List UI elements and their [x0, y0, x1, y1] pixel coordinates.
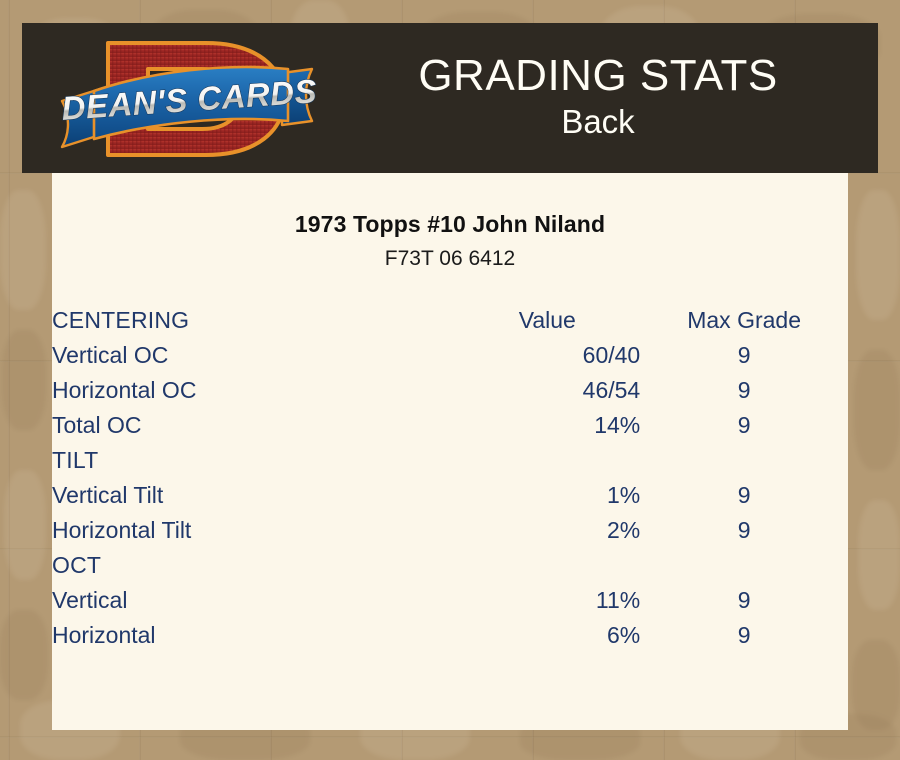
card-title: 1973 Topps #10 John Niland — [52, 211, 848, 238]
row-label: Horizontal OC — [52, 373, 454, 408]
table-row: Vertical 11% 9 — [52, 583, 848, 618]
card-id: F73T 06 6412 — [52, 247, 848, 271]
row-label: Horizontal — [52, 618, 454, 653]
section-row: OCT — [52, 548, 848, 583]
row-max-grade: 9 — [640, 583, 848, 618]
row-label: Total OC — [52, 408, 454, 443]
row-value: 11% — [454, 583, 640, 618]
grading-stats-page: DEAN'S CARDS GRADING STATS Back 1973 Top… — [0, 0, 900, 760]
row-max-grade: 9 — [640, 618, 848, 653]
section-spacer — [640, 443, 848, 478]
column-header-value: Value — [454, 303, 640, 338]
grading-stats-table: CENTERING Value Max Grade Vertical OC 60… — [52, 303, 848, 653]
section-title: OCT — [52, 548, 454, 583]
header-text-block: GRADING STATS Back — [318, 23, 878, 173]
row-value: 1% — [454, 478, 640, 513]
logo-graphic: DEAN'S CARDS — [56, 29, 318, 169]
table-row: Vertical Tilt 1% 9 — [52, 478, 848, 513]
table-row: Horizontal OC 46/54 9 — [52, 373, 848, 408]
section-spacer — [454, 548, 640, 583]
row-value: 2% — [454, 513, 640, 548]
table-body: Vertical OC 60/40 9 Horizontal OC 46/54 … — [52, 338, 848, 653]
table-row: Horizontal Tilt 2% 9 — [52, 513, 848, 548]
row-max-grade: 9 — [640, 338, 848, 373]
table-header: CENTERING Value Max Grade — [52, 303, 848, 338]
row-max-grade: 9 — [640, 513, 848, 548]
row-max-grade: 9 — [640, 408, 848, 443]
row-value: 14% — [454, 408, 640, 443]
row-value: 6% — [454, 618, 640, 653]
section-title: TILT — [52, 443, 454, 478]
page-title: GRADING STATS — [418, 51, 777, 101]
row-label: Vertical — [52, 583, 454, 618]
row-max-grade: 9 — [640, 373, 848, 408]
content-panel: 1973 Topps #10 John Niland F73T 06 6412 … — [52, 173, 848, 730]
row-label: Vertical Tilt — [52, 478, 454, 513]
table-row: Vertical OC 60/40 9 — [52, 338, 848, 373]
header-bar: DEAN'S CARDS GRADING STATS Back — [22, 23, 878, 173]
table-row: Horizontal 6% 9 — [52, 618, 848, 653]
column-header-section: CENTERING — [52, 303, 454, 338]
section-spacer — [454, 443, 640, 478]
row-value: 60/40 — [454, 338, 640, 373]
row-max-grade: 9 — [640, 478, 848, 513]
page-subtitle: Back — [561, 102, 634, 142]
row-value: 46/54 — [454, 373, 640, 408]
deans-cards-logo[interactable]: DEAN'S CARDS — [56, 29, 318, 169]
row-label: Horizontal Tilt — [52, 513, 454, 548]
table-header-row: CENTERING Value Max Grade — [52, 303, 848, 338]
section-row: TILT — [52, 443, 848, 478]
table-row: Total OC 14% 9 — [52, 408, 848, 443]
row-label: Vertical OC — [52, 338, 454, 373]
section-spacer — [640, 548, 848, 583]
column-header-max-grade: Max Grade — [640, 303, 848, 338]
